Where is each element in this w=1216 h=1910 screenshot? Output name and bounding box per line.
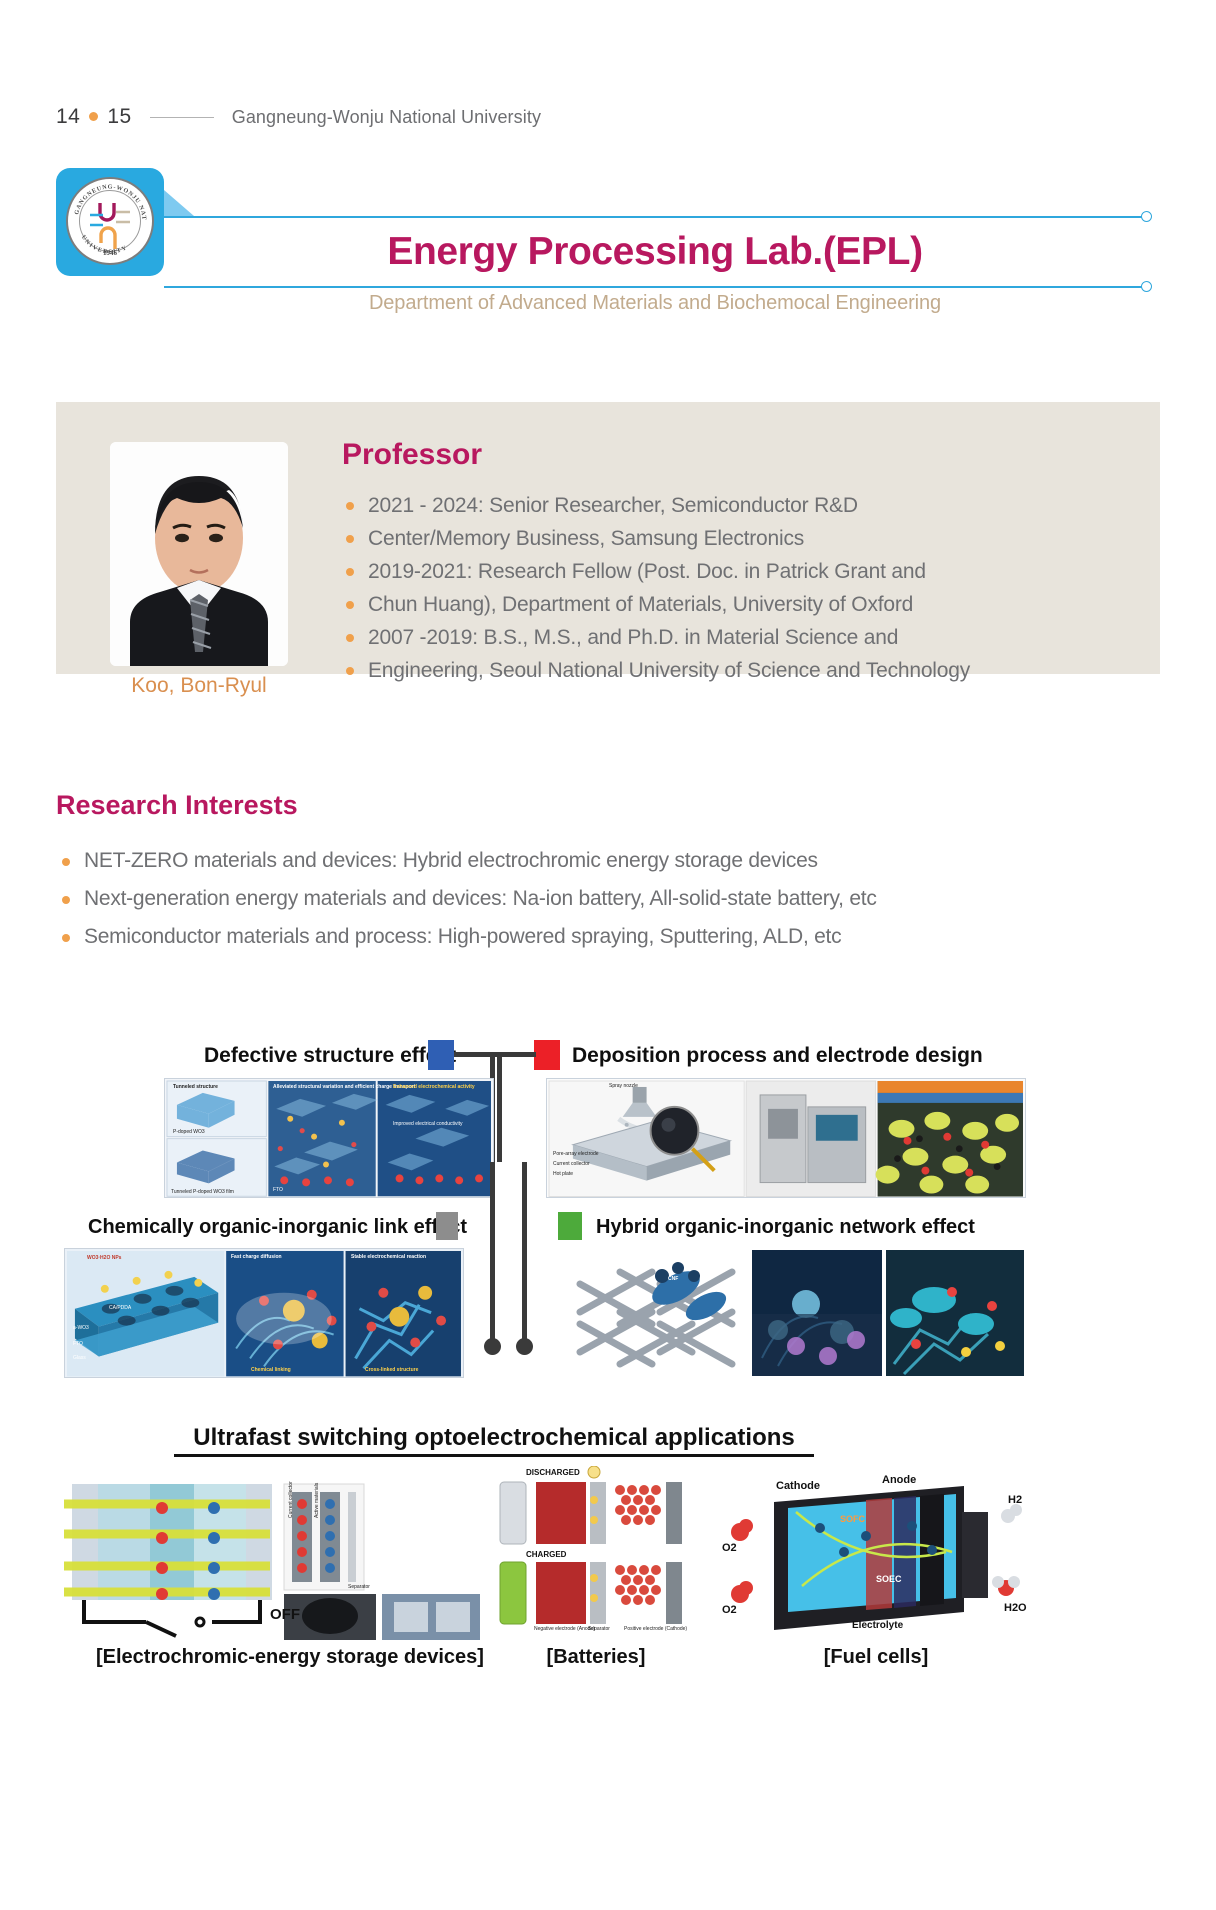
portrait-illustration — [110, 442, 288, 666]
panel-label: Electrolyte — [852, 1620, 903, 1631]
panel-label: Active materials — [314, 1483, 320, 1518]
panel-label: Separator — [348, 1584, 370, 1590]
professor-heading: Professor — [342, 438, 482, 472]
research-interests-list: NET-ZERO materials and devices: Hybrid e… — [60, 842, 1176, 956]
university-name: Gangneung-Wonju National University — [232, 107, 541, 128]
list-item: Center/Memory Business, Samsung Electron… — [342, 522, 1120, 555]
topic-label-hybrid-network: Hybrid organic-inorganic network effect — [596, 1216, 975, 1239]
topic-swatch-gray — [436, 1212, 458, 1240]
panel-label: a-WO3 — [73, 1325, 89, 1331]
applications-title: Ultrafast switching optoelectrochemical … — [174, 1424, 814, 1457]
university-logo: 1946 GANGNEUNG-WONJU NATIONAL UNIVERSITY — [56, 168, 164, 276]
topic-label-chemical-link: Chemically organic-inorganic link effect — [88, 1216, 467, 1239]
panel-label: Separator — [588, 1626, 610, 1632]
panel-label: CA/PDDA — [109, 1305, 131, 1311]
panel-label: Tunneled structure — [173, 1084, 218, 1090]
panel-label: Negative electrode (Anode) — [534, 1626, 595, 1632]
panel-label: FTO — [73, 1341, 83, 1347]
connector-dot — [484, 1338, 501, 1355]
topic-label-defective-structure: Defective structure effect — [204, 1044, 456, 1068]
figure-panel-deposition: Spray nozzle Pore-array electrode Curren… — [546, 1078, 1026, 1198]
topic-swatch-green — [558, 1212, 582, 1240]
figure-panel-electrochromic: OFF Current collector Active materials S… — [64, 1478, 484, 1642]
professor-bio-list: 2021 - 2024: Senior Researcher, Semicond… — [342, 489, 1120, 687]
lab-title-band: 1946 GANGNEUNG-WONJU NATIONAL UNIVERSITY… — [0, 168, 1216, 320]
band-line-bottom — [164, 286, 1146, 288]
list-item: Engineering, Seoul National University o… — [342, 654, 1120, 687]
panel-label: FTO — [273, 1187, 283, 1193]
panel-label: Enhanced electrochemical activity — [393, 1084, 475, 1090]
figure-panel-defective-structure: Tunneled structure Alleviated structural… — [164, 1078, 494, 1198]
topic-label-deposition-process: Deposition process and electrode design — [572, 1044, 983, 1068]
connector-line — [497, 1052, 502, 1162]
professor-panel: Koo, Bon-Ryul Professor 2021 - 2024: Sen… — [56, 402, 1160, 674]
svg-text:GANGNEUNG-WONJU NATIONAL: GANGNEUNG-WONJU NATIONAL — [68, 179, 147, 221]
topic-swatch-red — [534, 1040, 560, 1070]
panel-label-h2o: H2O — [1004, 1602, 1027, 1614]
band-notch — [164, 190, 194, 216]
professor-name: Koo, Bon-Ryul — [110, 674, 288, 698]
caption-electrochromic: [Electrochromic-energy storage devices] — [96, 1646, 456, 1669]
panel-label: P-doped WO3 — [173, 1129, 205, 1135]
university-seal: 1946 GANGNEUNG-WONJU NATIONAL UNIVERSITY — [66, 177, 154, 265]
panel-label: Glass — [73, 1355, 86, 1361]
connector-line — [490, 1162, 495, 1344]
list-item: 2019-2021: Research Fellow (Post. Doc. i… — [342, 555, 1120, 588]
panel-label: SOFC — [840, 1514, 865, 1524]
list-item: 2007 -2019: B.S., M.S., and Ph.D. in Mat… — [342, 621, 1120, 654]
panel-label: Improved electrical conductivity — [393, 1121, 462, 1127]
panel-label: Fast charge diffusion — [231, 1254, 282, 1260]
panel-label: Chemical linking — [251, 1367, 291, 1373]
list-item: NET-ZERO materials and devices: Hybrid e… — [60, 842, 1176, 880]
panel-label: Spray nozzle — [609, 1083, 638, 1089]
band-line-top — [164, 216, 1146, 218]
panel-label: Pore-array electrode — [553, 1151, 599, 1157]
panel-label-off: OFF — [270, 1606, 300, 1623]
list-item: Chun Huang), Department of Materials, Un… — [342, 588, 1120, 621]
band-endcap-top — [1141, 211, 1152, 222]
band-endcap-bottom — [1141, 281, 1152, 292]
panel-label: Stable electrochemical reaction — [351, 1254, 426, 1260]
panel-label-o2: O2 — [722, 1542, 737, 1554]
panel-label-o2: O2 — [722, 1604, 737, 1616]
lab-title: Energy Processing Lab.(EPL) — [164, 223, 1146, 281]
connector-line — [522, 1162, 527, 1344]
connector-line — [490, 1052, 534, 1057]
panel-label: Hot plate — [553, 1171, 573, 1177]
list-item: Semiconductor materials and process: Hig… — [60, 918, 1176, 956]
running-header: 14 15 Gangneung-Wonju National Universit… — [56, 105, 541, 129]
research-interests-heading: Research Interests — [56, 790, 298, 821]
panel-label-h2: H2 — [1008, 1494, 1022, 1506]
topic-swatch-blue — [428, 1040, 454, 1070]
list-item: Next-generation energy materials and dev… — [60, 880, 1176, 918]
panel-label: Tunneled P-doped WO3 film — [171, 1189, 234, 1195]
figure-panel-batteries: DISCHARGED CHARGED Negative electrode (A… — [490, 1466, 702, 1642]
connector-dot — [516, 1338, 533, 1355]
figure-panel-chemical-link: WO3·H2O NPs Fast charge diffusion Stable… — [64, 1248, 464, 1378]
page-number-right: 15 — [107, 105, 131, 129]
lab-department: Department of Advanced Materials and Bio… — [164, 292, 1146, 315]
caption-fuel-cells: [Fuel cells] — [736, 1646, 1016, 1669]
panel-label: CNF — [668, 1276, 678, 1282]
list-item: 2021 - 2024: Senior Researcher, Semicond… — [342, 489, 1120, 522]
research-figure: Defective structure effect Deposition pr… — [56, 1000, 1160, 1740]
caption-batteries: [Batteries] — [496, 1646, 696, 1669]
panel-label: Current collector — [553, 1161, 590, 1167]
panel-label: Anode — [882, 1474, 916, 1486]
panel-label: Positive electrode (Cathode) — [624, 1626, 687, 1632]
page-number-left: 14 — [56, 105, 80, 129]
brochure-page: 14 15 Gangneung-Wonju National Universit… — [0, 0, 1216, 1910]
panel-label: Cathode — [776, 1480, 820, 1492]
page-separator-dot — [89, 112, 98, 121]
panel-label: SOEC — [876, 1574, 902, 1584]
seal-ring-text: GANGNEUNG-WONJU NATIONAL UNIVERSITY — [68, 179, 152, 263]
panel-label: DISCHARGED — [526, 1468, 580, 1477]
professor-photo — [110, 442, 288, 666]
figure-panel-hybrid-network: CNF — [556, 1248, 1026, 1378]
figure-panel-fuel-cells: Cathode Anode SOFC SOEC Electrolyte O2 O… — [716, 1466, 1036, 1642]
panel-label: WO3·H2O NPs — [87, 1255, 121, 1261]
panel-label: CHARGED — [526, 1550, 566, 1559]
panel-label: Current collector — [288, 1481, 294, 1518]
panel-label: Cross-linked structure — [365, 1367, 418, 1373]
svg-text:UNIVERSITY: UNIVERSITY — [80, 234, 129, 255]
header-rule — [150, 117, 214, 118]
